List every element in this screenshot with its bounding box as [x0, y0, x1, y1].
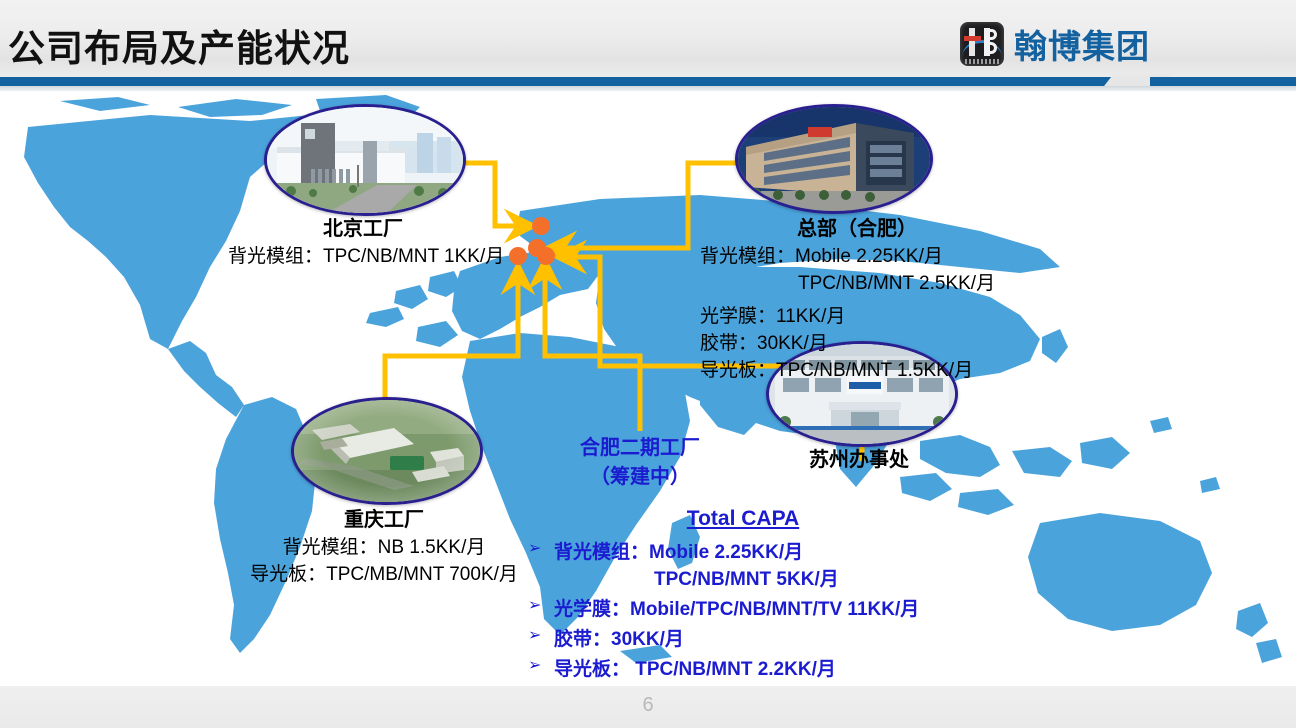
site-note-hefei-phase2: （筹建中）	[540, 460, 740, 489]
label-suzhou: 苏州办事处	[766, 443, 952, 472]
site-name-suzhou: 苏州办事处	[766, 443, 952, 472]
site-line-cq-1: 导光板：TPC/MB/MNT 700K/月	[238, 559, 530, 586]
brand-name: 翰博集团	[1014, 20, 1150, 68]
label-hefei-phase2: 合肥二期工厂 （筹建中）	[540, 431, 740, 489]
capa-item-text-1: 光学膜：Mobile/TPC/NB/MNT/TV 11KK/月	[554, 594, 919, 621]
site-name-headquarters: 总部（合肥）	[700, 212, 1014, 241]
capa-item-text-3: 导光板： TPC/NB/MNT 2.2KK/月	[554, 654, 836, 681]
capa-item-2: ➢ 胶带：30KK/月	[528, 624, 998, 651]
capa-item-text-2: 胶带：30KK/月	[554, 624, 684, 651]
page-number: 6	[0, 694, 1296, 717]
bullet-arrow-icon-3: ➢	[528, 654, 546, 678]
label-headquarters: 总部（合肥） 背光模组：Mobile 2.25KK/月 TPC/NB/MNT 2…	[700, 212, 1014, 382]
beijing-factory-photo	[264, 104, 466, 216]
site-line-hq-3: 胶带：30KK/月	[700, 328, 1014, 355]
capa-item-1: ➢ 光学膜：Mobile/TPC/NB/MNT/TV 11KK/月	[528, 594, 998, 621]
site-line-hq-4: 导光板：TPC/NB/MNT 1.5KK/月	[700, 355, 1014, 382]
site-name-hefei-phase2: 合肥二期工厂	[540, 431, 740, 460]
bullet-arrow-icon-0: ➢	[528, 537, 546, 561]
total-capa-block: Total CAPA ➢ 背光模组：Mobile 2.25KK/月 TPC/NB…	[528, 507, 998, 681]
site-line-hq-0: 背光模组：Mobile 2.25KK/月	[700, 241, 1014, 268]
slide: 公司布局及产能状况 翰博集团	[0, 0, 1296, 728]
bullet-arrow-icon-1: ➢	[528, 594, 546, 618]
site-line-hq-1: TPC/NB/MNT 2.5KK/月	[700, 268, 1014, 295]
site-line-cq-0: 背光模组：NB 1.5KK/月	[238, 532, 530, 559]
hanbo-square-logo-icon	[960, 22, 1004, 66]
map-stage: 北京工厂 背光模组：TPC/NB/MNT 1KK/月 总部（合肥） 背光模组：M…	[0, 91, 1296, 686]
page-title: 公司布局及产能状况	[8, 18, 350, 72]
brand-logo: 翰博集团	[960, 20, 1150, 68]
label-beijing: 北京工厂 背光模组：TPC/NB/MNT 1KK/月	[228, 212, 498, 268]
hefei-headquarters-photo	[735, 104, 933, 214]
capa-item-0: ➢ 背光模组：Mobile 2.25KK/月	[528, 537, 998, 564]
chongqing-factory-photo	[291, 397, 483, 505]
capa-item-3: ➢ 导光板： TPC/NB/MNT 2.2KK/月	[528, 654, 998, 681]
site-line-beijing-0: 背光模组：TPC/NB/MNT 1KK/月	[228, 241, 498, 268]
site-name-chongqing: 重庆工厂	[238, 503, 530, 532]
capa-item-text-0: 背光模组：Mobile 2.25KK/月	[554, 537, 803, 564]
label-chongqing: 重庆工厂 背光模组：NB 1.5KK/月 导光板：TPC/MB/MNT 700K…	[238, 503, 530, 586]
site-line-hq-2: 光学膜：11KK/月	[700, 301, 1014, 328]
slide-header: 公司布局及产能状况 翰博集团	[0, 0, 1296, 83]
capa-item-sub-0: TPC/NB/MNT 5KK/月	[528, 564, 998, 591]
header-accent-rule	[0, 77, 1296, 86]
header-rule-cap	[1150, 77, 1296, 86]
total-capa-title: Total CAPA	[528, 507, 958, 531]
site-name-beijing: 北京工厂	[228, 212, 498, 241]
bullet-arrow-icon-2: ➢	[528, 624, 546, 648]
